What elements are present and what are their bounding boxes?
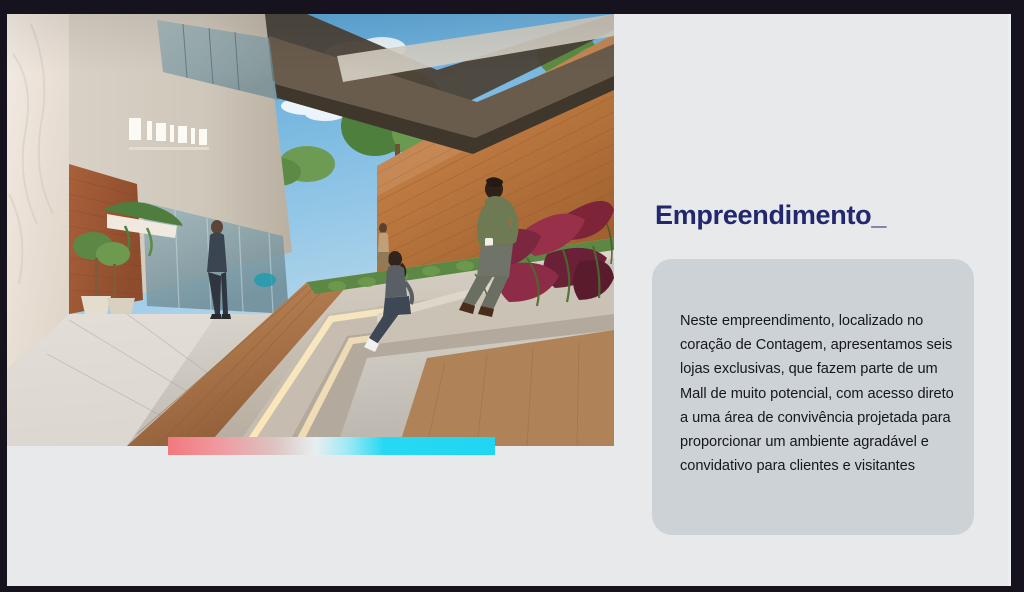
gradient-accent-bar <box>168 437 495 455</box>
description-card: Neste empreendimento, localizado no cora… <box>652 259 974 535</box>
content-column: Empreendimento_ Neste empreendimento, lo… <box>648 14 1011 586</box>
description-text: Neste empreendimento, localizado no cora… <box>680 309 956 478</box>
slide-right-edge <box>1008 14 1011 586</box>
hero-image-architectural-render <box>7 14 614 446</box>
hero-image-artwork <box>7 14 614 446</box>
presentation-viewer-frame: Empreendimento_ Neste empreendimento, lo… <box>0 0 1024 592</box>
page-title: Empreendimento_ <box>655 200 886 231</box>
slide-canvas: Empreendimento_ Neste empreendimento, lo… <box>7 14 1011 586</box>
